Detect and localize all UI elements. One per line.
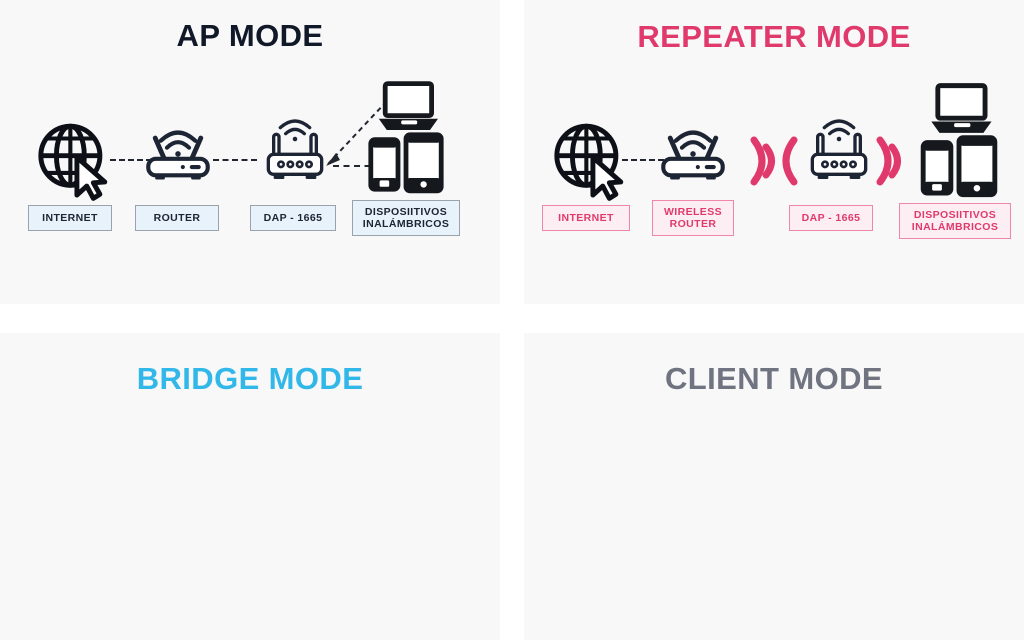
wireless-router-icon bbox=[655, 125, 731, 187]
node-internet-repeater bbox=[547, 118, 629, 200]
chip-router-repeater[interactable]: WIRELESS ROUTER bbox=[652, 200, 734, 236]
node-router-ap bbox=[140, 125, 216, 187]
signal-arcs-router-dap bbox=[746, 134, 802, 188]
panel-client-mode: CLIENT MODE bbox=[524, 333, 1024, 640]
panel-ap-mode: AP MODE bbox=[0, 0, 500, 304]
chip-dap-repeater[interactable]: DAP - 1665 bbox=[789, 205, 873, 231]
panel-title-repeater-mode: REPEATER MODE bbox=[524, 0, 1024, 55]
panel-repeater-mode: REPEATER MODE bbox=[524, 0, 1024, 304]
wireless-devices-icon bbox=[366, 82, 446, 194]
chip-devices-ap[interactable]: DISPOSIITIVOS INALÁMBRICOS bbox=[352, 200, 460, 236]
panel-title-bridge-mode: BRIDGE MODE bbox=[0, 333, 500, 397]
dap-router-icon bbox=[260, 113, 330, 185]
chip-devices-repeater[interactable]: DISPOSIITIVOS INALÁMBRICOS bbox=[899, 203, 1011, 239]
globe-cursor-icon bbox=[31, 118, 113, 200]
node-devices-repeater bbox=[918, 84, 1000, 198]
node-router-repeater bbox=[655, 125, 731, 187]
node-internet-ap bbox=[31, 118, 113, 200]
link-dashed-router-dap bbox=[213, 159, 257, 161]
chip-dap-ap[interactable]: DAP - 1665 bbox=[250, 205, 336, 231]
signal-arcs-dap-devices bbox=[872, 134, 908, 188]
dap-router-icon bbox=[804, 113, 874, 185]
panel-bridge-mode: BRIDGE MODE bbox=[0, 333, 500, 640]
panel-title-ap-mode: AP MODE bbox=[0, 0, 500, 54]
node-dap-repeater bbox=[804, 113, 874, 185]
chip-internet-repeater[interactable]: INTERNET bbox=[542, 205, 630, 231]
mode-diagram-grid: AP MODE bbox=[0, 0, 1024, 640]
node-devices-ap bbox=[366, 82, 446, 194]
wireless-router-icon bbox=[140, 125, 216, 187]
globe-cursor-icon bbox=[547, 118, 629, 200]
chip-router-ap[interactable]: ROUTER bbox=[135, 205, 219, 231]
panel-title-client-mode: CLIENT MODE bbox=[524, 333, 1024, 397]
node-dap-ap bbox=[260, 113, 330, 185]
wireless-devices-icon bbox=[918, 84, 1000, 198]
chip-internet-ap[interactable]: INTERNET bbox=[28, 205, 112, 231]
